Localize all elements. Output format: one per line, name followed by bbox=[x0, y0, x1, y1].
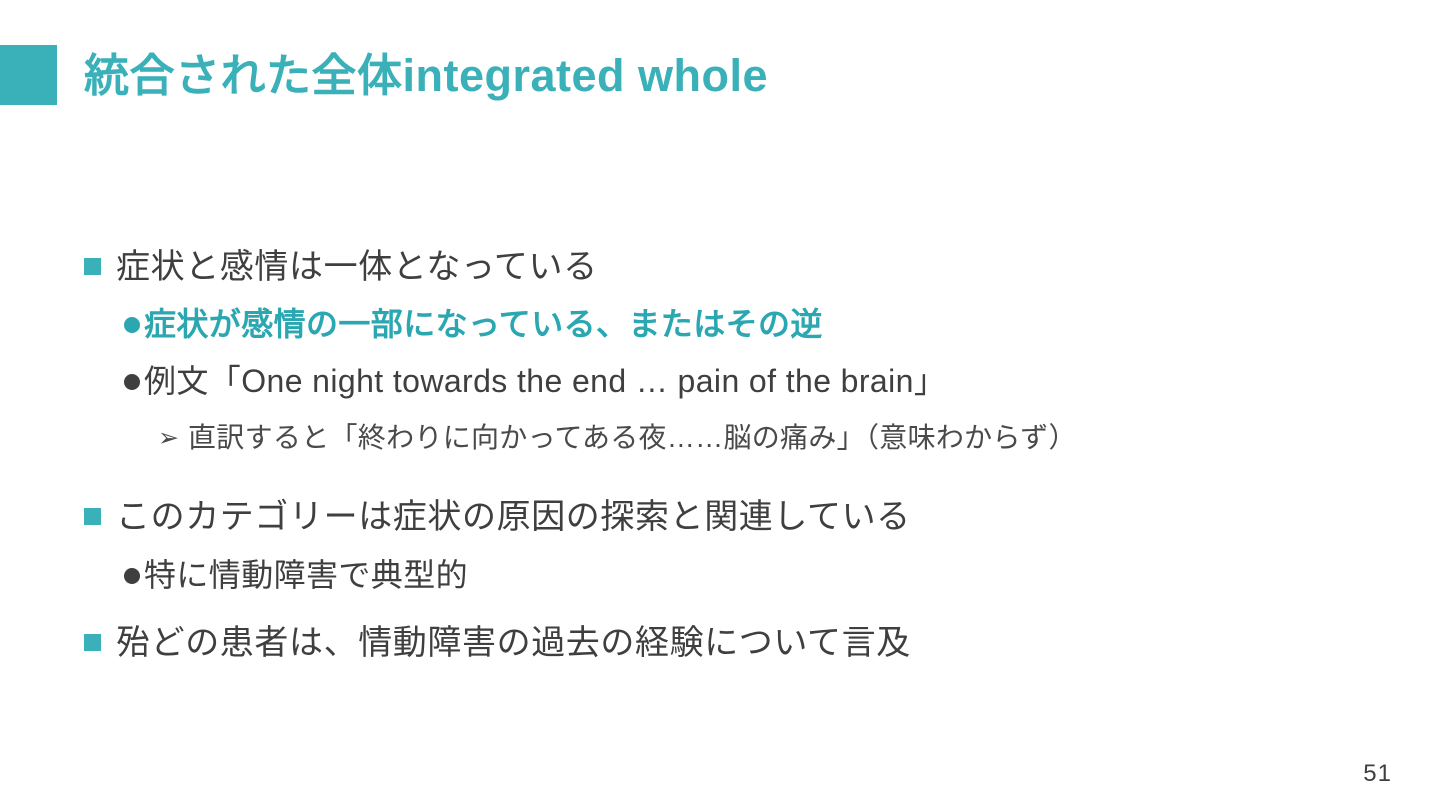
square-bullet-icon bbox=[84, 634, 101, 651]
bullet-line-2-text: 症状が感情の一部になっている、またはその逆 bbox=[144, 308, 823, 340]
bullet-line-7-text: 殆どの患者は、情動障害の過去の経験について言及 bbox=[116, 626, 911, 660]
bullet-line-5-text: このカテゴリーは症状の原因の探索と関連している bbox=[116, 500, 911, 534]
bullet-line-6: 特に情動障害で典型的 bbox=[0, 559, 1440, 591]
bullet-line-1-text: 症状と感情は一体となっている bbox=[116, 250, 598, 284]
disc-bullet-icon bbox=[124, 568, 140, 584]
bullet-line-1: 症状と感情は一体となっている bbox=[0, 250, 1440, 284]
bullet-line-6-text: 特に情動障害で典型的 bbox=[144, 559, 468, 591]
page-title: 統合された全体integrated whole bbox=[84, 40, 1384, 112]
disc-bullet-icon bbox=[124, 317, 140, 333]
bullet-line-3-text: 例文「One night towards the end … pain of t… bbox=[144, 365, 946, 397]
arrow-bullet-icon: ➢ bbox=[158, 426, 188, 451]
square-bullet-icon bbox=[84, 508, 101, 525]
bullet-line-4: ➢ 直訳すると「終わりに向かってある夜……脳の痛み」（意味わからず） bbox=[0, 424, 1440, 452]
page-number: 51 bbox=[1363, 760, 1392, 788]
bullet-line-3: 例文「One night towards the end … pain of t… bbox=[0, 365, 1440, 397]
slide-canvas: 統合された全体integrated whole 症状と感情は一体となっている 症… bbox=[0, 0, 1440, 810]
bullet-line-5: このカテゴリーは症状の原因の探索と関連している bbox=[0, 500, 1440, 534]
title-accent-block bbox=[0, 45, 57, 105]
slide-body: 症状と感情は一体となっている 症状が感情の一部になっている、またはその逆 例文「… bbox=[0, 228, 1440, 698]
bullet-line-7: 殆どの患者は、情動障害の過去の経験について言及 bbox=[0, 626, 1440, 660]
bullet-line-2: 症状が感情の一部になっている、またはその逆 bbox=[0, 308, 1440, 340]
disc-bullet-icon bbox=[124, 374, 140, 390]
square-bullet-icon bbox=[84, 258, 101, 275]
bullet-line-4-text: 直訳すると「終わりに向かってある夜……脳の痛み」（意味わからず） bbox=[188, 424, 1077, 452]
